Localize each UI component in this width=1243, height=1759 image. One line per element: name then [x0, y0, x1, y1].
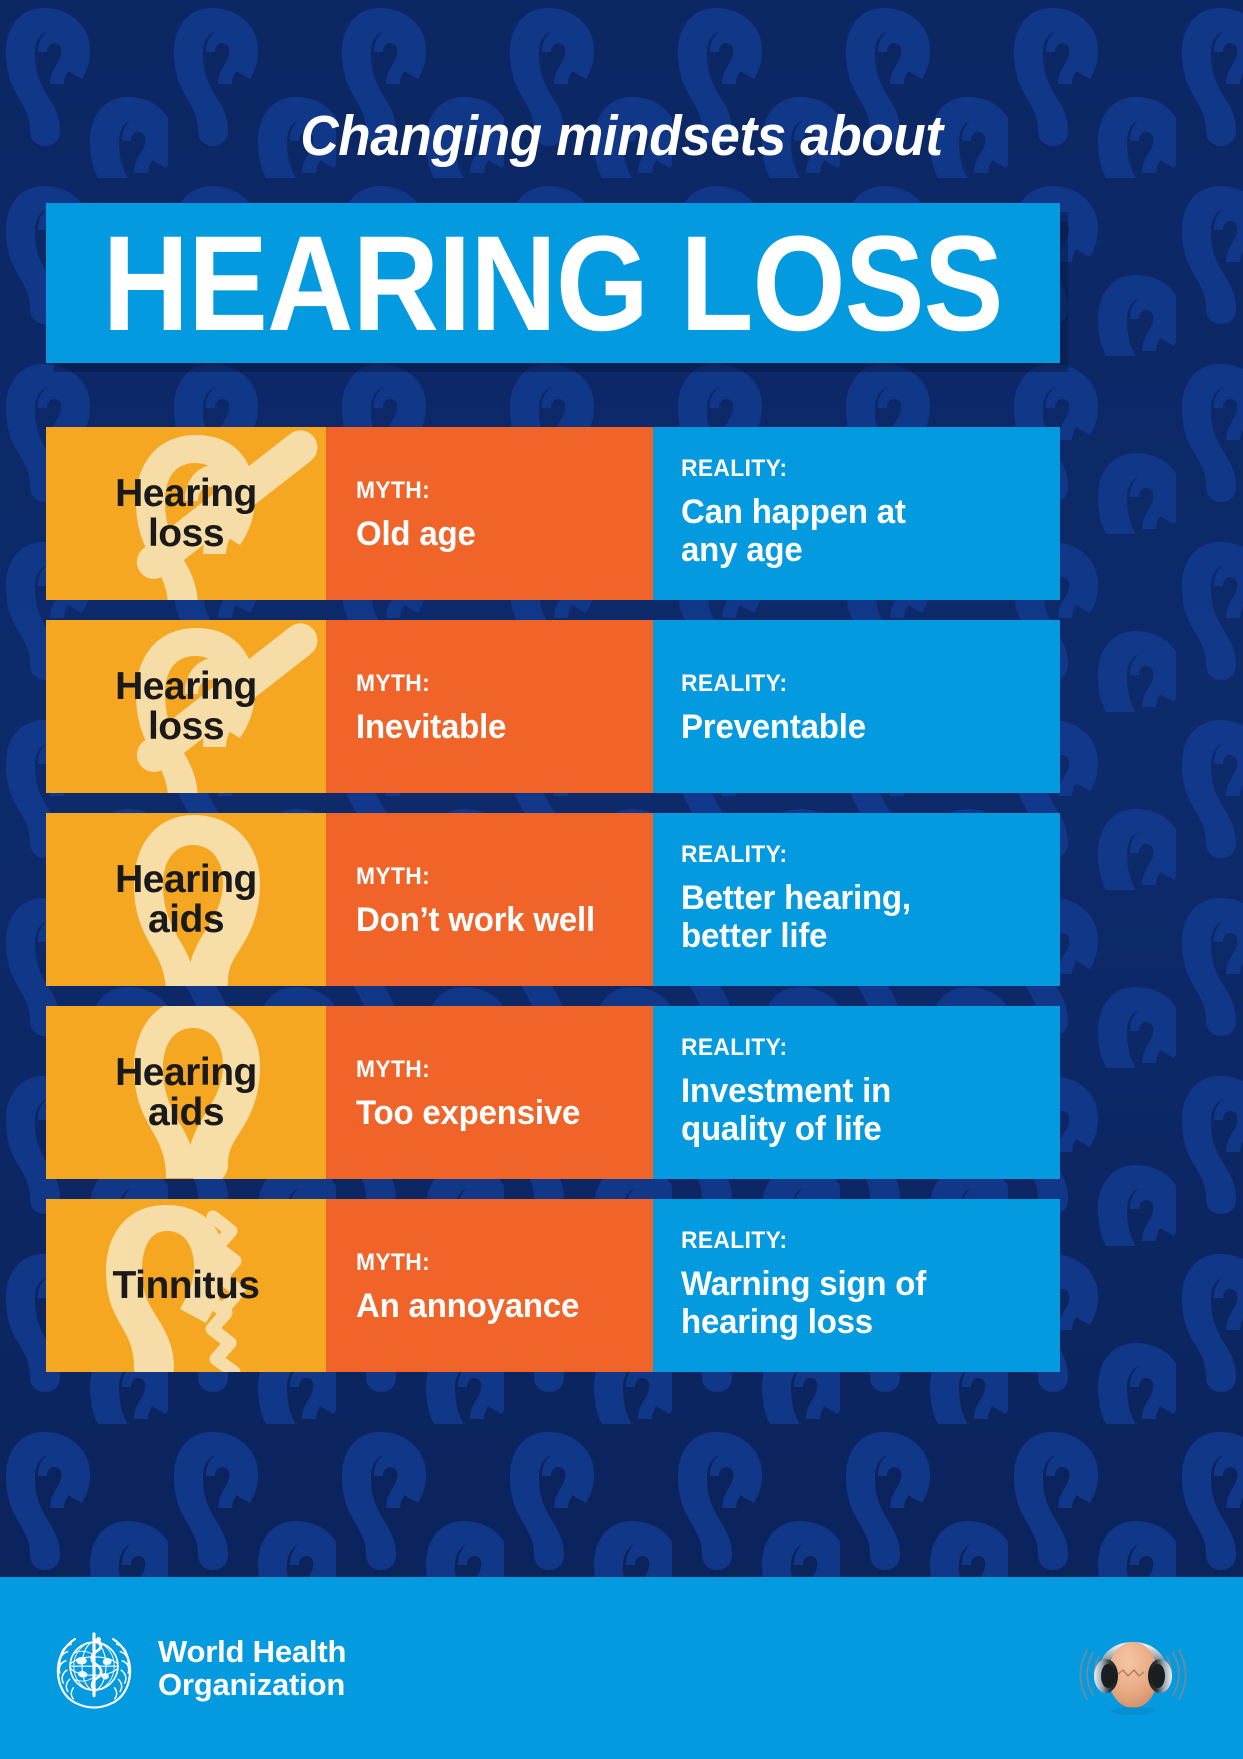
topic-label: Hearing aids [115, 860, 257, 940]
myth-tag: MYTH: [356, 1251, 638, 1275]
reality-text: Can happen at any age [681, 493, 1027, 570]
topic-cell: Hearing aids [46, 1006, 326, 1179]
table-row: Hearing aids MYTH: Too expensive REALITY… [46, 1006, 1060, 1179]
myth-reality-table: Hearing loss MYTH: Old age REALITY: Can … [46, 427, 1060, 1392]
reality-line-2: better life [681, 917, 827, 955]
poster-footer: World Health Organization [0, 1577, 1243, 1759]
who-name-line-1: World Health [158, 1634, 346, 1669]
page-title: HEARING LOSS [103, 215, 1003, 351]
reality-cell: REALITY: Warning sign of hearing loss [653, 1199, 1060, 1372]
myth-text: Too expensive [356, 1094, 644, 1132]
myth-tag: MYTH: [356, 479, 638, 503]
table-row: Hearing aids MYTH: Don’t work well REALI… [46, 813, 1060, 986]
who-name-line-2: Organization [158, 1667, 345, 1702]
reality-line-2: any age [681, 531, 802, 569]
myth-cell: MYTH: Too expensive [326, 1006, 653, 1179]
topic-cell: Tinnitus [46, 1199, 326, 1372]
topic-line-1: Tinnitus [113, 1264, 260, 1307]
reality-line-1: Can happen at [681, 493, 906, 531]
topic-line-1: Hearing [115, 1051, 257, 1094]
reality-text: Warning sign of hearing loss [681, 1265, 1027, 1342]
title-band: HEARING LOSS [46, 203, 1060, 363]
myth-cell: MYTH: Inevitable [326, 620, 653, 793]
table-row: Hearing loss MYTH: Inevitable REALITY: P… [46, 620, 1060, 793]
reality-tag: REALITY: [681, 843, 1020, 867]
reality-line-1: Warning sign of [681, 1265, 926, 1303]
reality-tag: REALITY: [681, 1229, 1020, 1253]
reality-line-1: Investment in [681, 1072, 891, 1110]
reality-text: Better hearing, better life [681, 879, 1027, 956]
reality-cell: REALITY: Can happen at any age [653, 427, 1060, 600]
egg-with-headphones-icon [1075, 1613, 1191, 1723]
topic-label: Hearing loss [115, 667, 257, 747]
reality-tag: REALITY: [681, 457, 1020, 481]
reality-tag: REALITY: [681, 672, 1020, 696]
who-emblem-icon [48, 1622, 140, 1714]
myth-text: Don’t work well [356, 901, 644, 939]
reality-line-1: Better hearing, [681, 879, 911, 917]
myth-cell: MYTH: Don’t work well [326, 813, 653, 986]
topic-line-2: loss [148, 705, 224, 748]
myth-tag: MYTH: [356, 865, 638, 889]
reality-cell: REALITY: Preventable [653, 620, 1060, 793]
reality-line-2: quality of life [681, 1110, 881, 1148]
topic-line-1: Hearing [115, 858, 257, 901]
myth-cell: MYTH: An annoyance [326, 1199, 653, 1372]
who-logo-block: World Health Organization [48, 1622, 346, 1714]
poster-root: Changing mindsets about HEARING LOSS [0, 0, 1243, 1759]
myth-cell: MYTH: Old age [326, 427, 653, 600]
topic-cell: Hearing aids [46, 813, 326, 986]
myth-tag: MYTH: [356, 672, 638, 696]
topic-cell: Hearing loss [46, 620, 326, 793]
table-row: Hearing loss MYTH: Old age REALITY: Can … [46, 427, 1060, 600]
myth-text: An annoyance [356, 1287, 644, 1325]
topic-line-2: loss [148, 512, 224, 555]
kicker-text: Changing mindsets about [44, 108, 1200, 165]
myth-text: Old age [356, 515, 644, 553]
topic-line-1: Hearing [115, 665, 257, 708]
reality-text: Preventable [681, 708, 1027, 746]
topic-line-2: aids [148, 1091, 224, 1134]
reality-cell: REALITY: Better hearing, better life [653, 813, 1060, 986]
myth-tag: MYTH: [356, 1058, 638, 1082]
topic-label: Hearing aids [115, 1053, 257, 1133]
table-row: Tinnitus MYTH: An annoyance REALITY: War… [46, 1199, 1060, 1372]
reality-tag: REALITY: [681, 1036, 1020, 1060]
topic-line-1: Hearing [115, 472, 257, 515]
reality-line-2: hearing loss [681, 1303, 873, 1341]
topic-label: Hearing loss [115, 474, 257, 554]
who-organization-name: World Health Organization [158, 1635, 346, 1702]
topic-cell: Hearing loss [46, 427, 326, 600]
poster-header: Changing mindsets about [0, 0, 1243, 165]
myth-text: Inevitable [356, 708, 644, 746]
reality-text: Investment in quality of life [681, 1072, 1027, 1149]
topic-label: Tinnitus [113, 1266, 260, 1306]
reality-cell: REALITY: Investment in quality of life [653, 1006, 1060, 1179]
topic-line-2: aids [148, 898, 224, 941]
